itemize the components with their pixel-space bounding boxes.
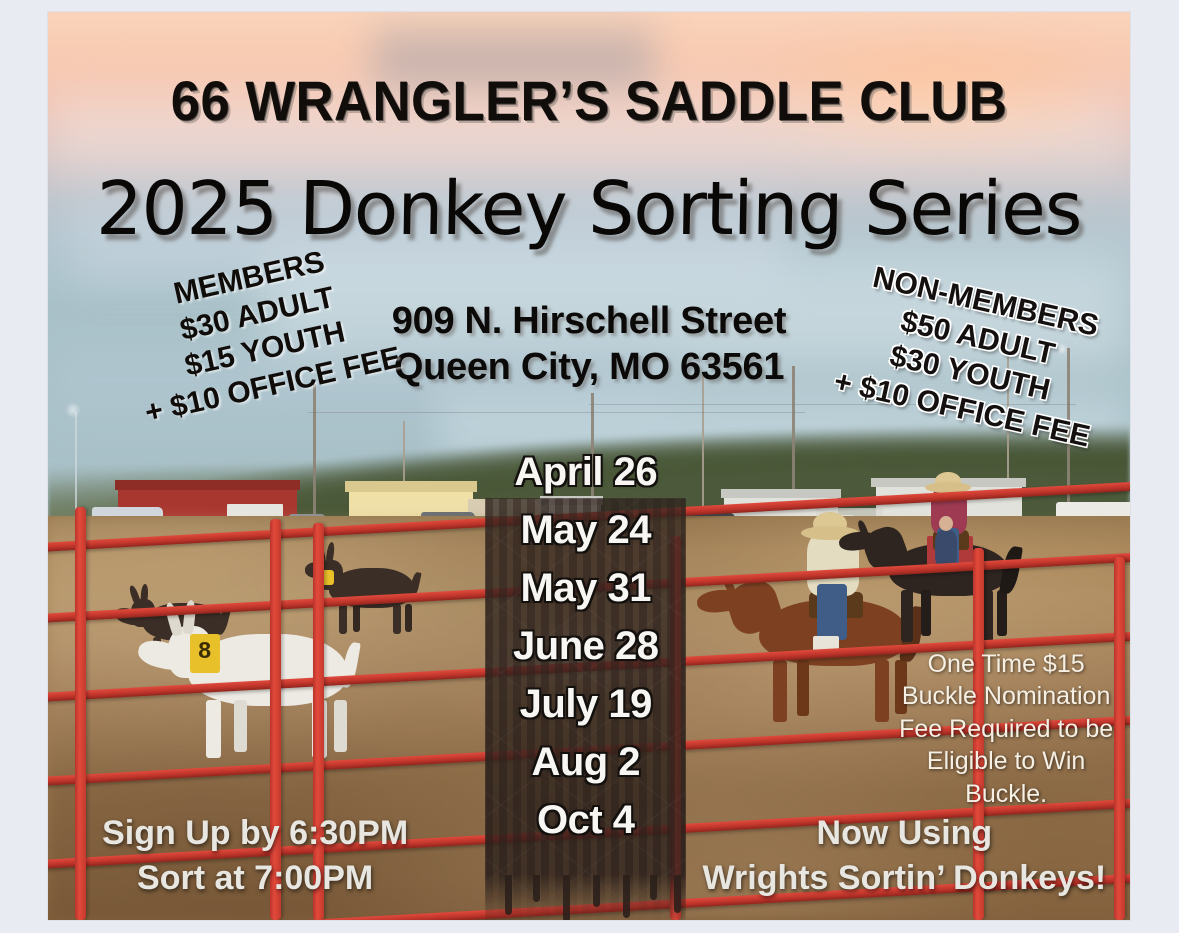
power-line — [308, 412, 806, 413]
address-line-1: 909 N. Hirschell Street — [392, 298, 786, 344]
address-line-2: Queen City, MO 63561 — [392, 344, 786, 390]
buckle-note-line-4: Eligible to Win — [895, 745, 1117, 778]
buckle-note-line-5: Buckle. — [895, 778, 1117, 811]
event-date: May 24 — [485, 501, 686, 559]
venue-address: 909 N. Hirschell Street Queen City, MO 6… — [392, 298, 786, 391]
paint-drip — [563, 875, 570, 920]
event-date: Oct 4 — [485, 791, 686, 849]
buckle-nomination-note: One Time $15 Buckle Nomination Fee Requi… — [895, 648, 1117, 811]
stock-note-line-1: Now Using — [703, 811, 1107, 856]
garage-roof — [721, 489, 841, 498]
buckle-note-line-2: Buckle Nomination — [895, 680, 1117, 713]
event-dates-list: April 26 May 24 May 31 June 28 July 19 A… — [485, 443, 686, 849]
event-poster: 8 — [48, 12, 1130, 920]
paint-drip — [623, 875, 630, 919]
stock-provider-note: Now Using Wrights Sortin’ Donkeys! — [703, 811, 1107, 901]
fence-post — [75, 507, 86, 920]
sort-time: Sort at 7:00PM — [102, 856, 408, 901]
barn-roof — [115, 480, 301, 490]
paint-drip — [593, 875, 600, 908]
event-date: May 31 — [485, 559, 686, 617]
paint-drip — [533, 875, 540, 902]
paint-drip — [505, 875, 512, 916]
event-date: June 28 — [485, 617, 686, 675]
buckle-note-line-3: Fee Required to be — [895, 713, 1117, 746]
schedule-note: Sign Up by 6:30PM Sort at 7:00PM — [102, 811, 408, 901]
event-date: April 26 — [485, 443, 686, 501]
event-date: July 19 — [485, 675, 686, 733]
club-title: 66 WRANGLER’S SADDLE CLUB — [80, 68, 1097, 133]
buckle-note-line-1: One Time $15 — [895, 648, 1117, 681]
event-date: Aug 2 — [485, 733, 686, 791]
paint-drip — [650, 875, 657, 900]
paint-drip — [674, 875, 681, 913]
stock-note-line-2: Wrights Sortin’ Donkeys! — [703, 856, 1107, 901]
signup-time: Sign Up by 6:30PM — [102, 811, 408, 856]
series-title: 2025 Donkey Sorting Series — [58, 166, 1120, 252]
building-roof — [345, 481, 477, 492]
